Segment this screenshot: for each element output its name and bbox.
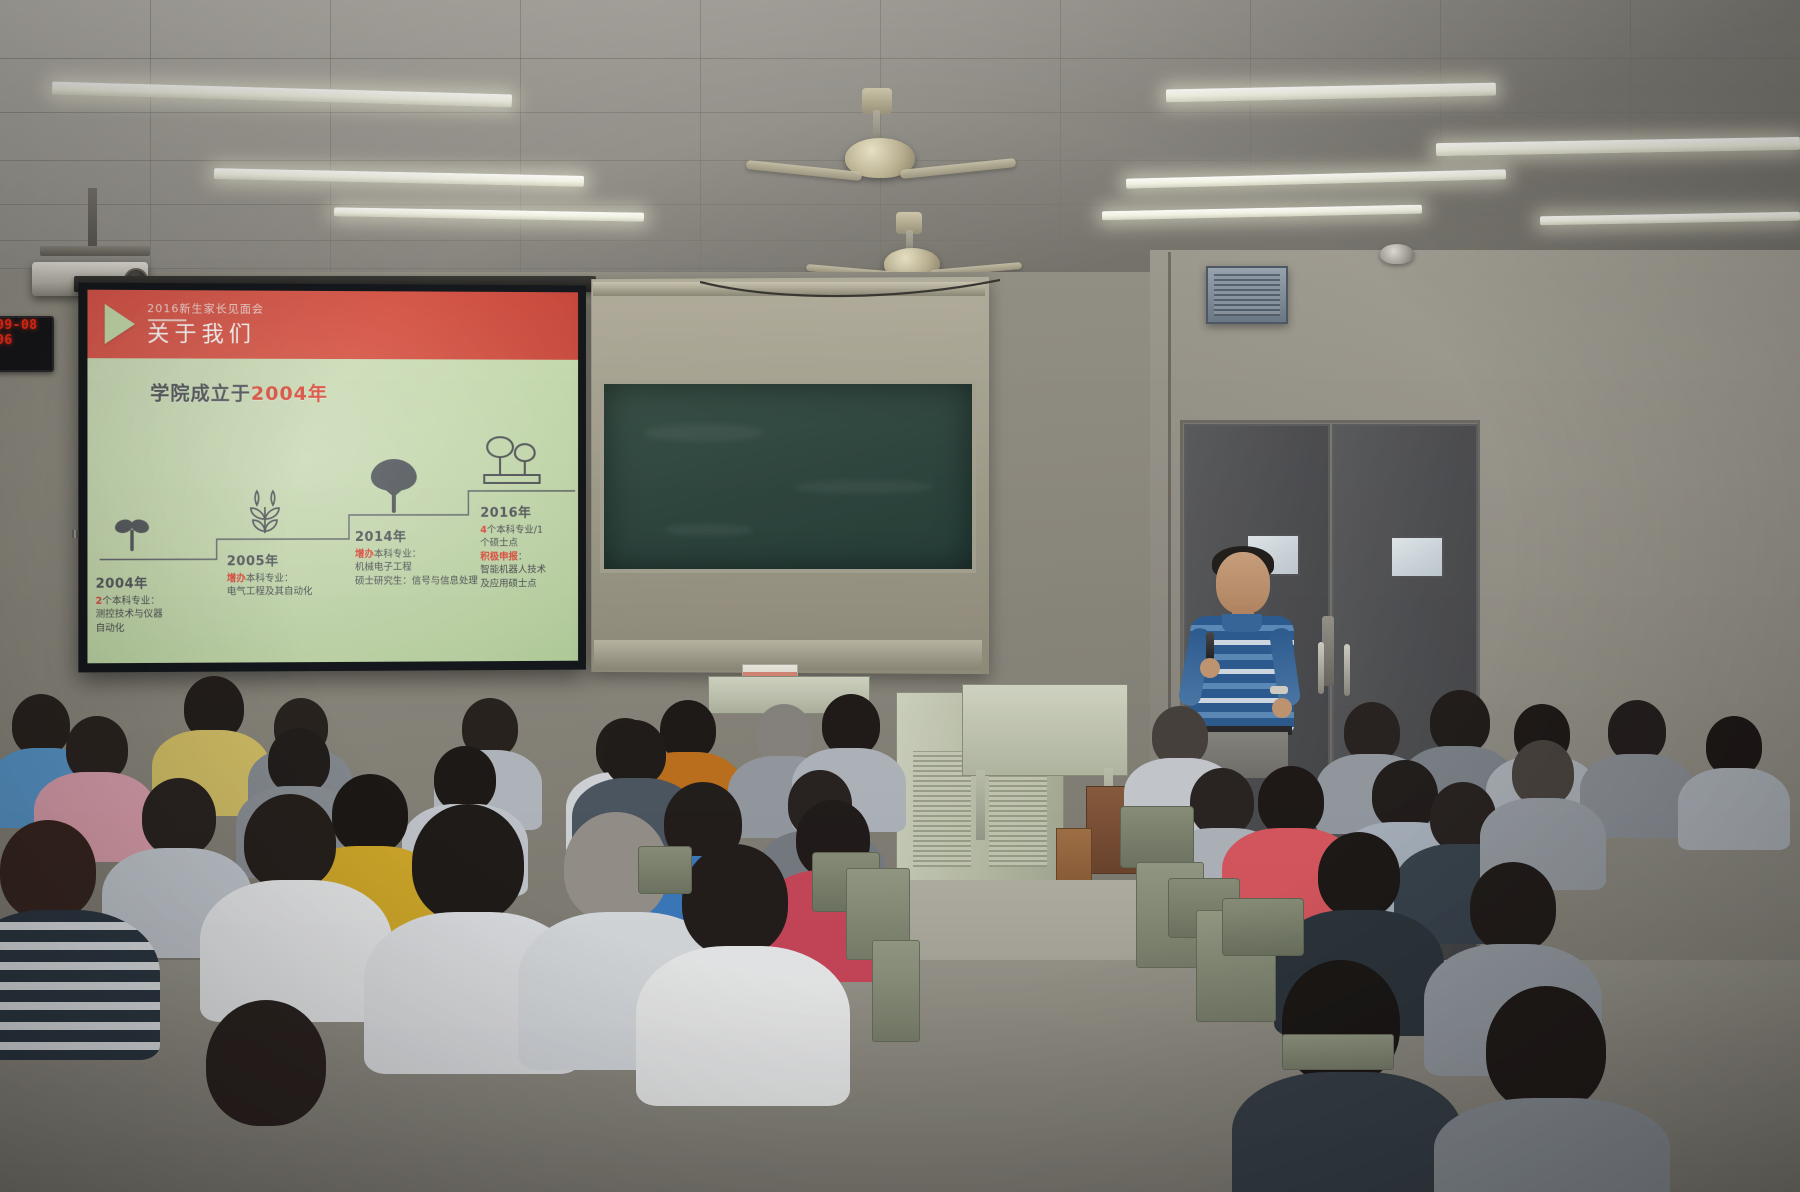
timeline-line: 个硕士点	[480, 537, 546, 551]
dome-camera-icon	[1380, 244, 1414, 264]
audience-body	[636, 946, 850, 1106]
sprout-icon	[114, 511, 150, 551]
audience-body	[1678, 768, 1790, 850]
audience-head	[12, 694, 70, 756]
timeline-year: 2005年	[227, 555, 313, 569]
timeline-line: 积极申报：	[480, 550, 546, 564]
audience-body	[1434, 1098, 1670, 1192]
led-clock-time: 06	[0, 333, 52, 348]
tree-icon	[369, 457, 419, 513]
audience-head	[206, 1000, 326, 1126]
ceiling-cable	[700, 278, 1000, 306]
wristwatch-icon	[1270, 686, 1288, 694]
projector-bracket	[88, 188, 97, 250]
seedling-icon	[243, 489, 287, 535]
audience-head	[412, 804, 524, 922]
presenter-head	[1216, 552, 1270, 614]
timeline-col-2004: 2004年 2个本科专业： 测控技术与仪器 自动化	[96, 577, 163, 635]
timeline-line: 智能机器人技术	[480, 563, 546, 577]
audience-head	[1512, 740, 1574, 806]
projected-slide: 2016新生家长见面会 关于我们 学院成立于2004年	[87, 290, 578, 664]
classroom-chair	[638, 846, 692, 894]
slide-title: 关于我们	[147, 322, 264, 348]
timeline-line: 机械电子工程	[355, 561, 478, 575]
timeline-line: 硕士研究生：信号与信息处理	[355, 574, 478, 588]
audience-head	[822, 694, 880, 756]
timeline-line: 增办本科专业：	[227, 572, 313, 586]
timeline-line: 及应用硕士点	[480, 577, 546, 591]
audience-head	[1608, 700, 1666, 762]
green-chalkboard	[600, 380, 976, 573]
timeline-year: 2004年	[96, 577, 163, 591]
timeline-col-2016: 2016年 4个本科专业/1 个硕士点 积极申报： 智能机器人技术 及应用硕士点	[480, 507, 546, 591]
audience-head	[244, 794, 336, 890]
audience-head	[1430, 690, 1490, 754]
ac-grill-icon	[1214, 274, 1280, 316]
timeline-year: 2014年	[355, 531, 478, 545]
timeline-line: 自动化	[96, 621, 163, 635]
forest-icon	[480, 435, 541, 497]
audience-head	[332, 774, 408, 854]
side-desk	[962, 684, 1128, 776]
presenter-collar	[1222, 614, 1262, 632]
wall-air-conditioner	[1206, 266, 1288, 324]
audience-head	[1706, 716, 1762, 776]
door-handle-right[interactable]	[1344, 644, 1350, 696]
wall-led-clock: 09-08 06	[0, 316, 54, 372]
audience-head	[604, 720, 666, 786]
timeline-year: 2016年	[480, 507, 546, 520]
slide-kicker: 2016新生家长见面会	[147, 302, 264, 317]
timeline-col-2005: 2005年 增办本科专业： 电气工程及其自动化	[227, 555, 313, 599]
slide-heading: 学院成立于2004年	[150, 378, 328, 406]
presenter-right-hand	[1272, 698, 1292, 718]
classroom-chair	[1282, 1034, 1394, 1070]
timeline-col-2014: 2014年 增办本科专业： 机械电子工程 硕士研究生：信号与信息处理	[355, 531, 478, 588]
door-window-right	[1390, 536, 1444, 578]
audience-head	[1190, 768, 1254, 836]
audience-head	[1152, 706, 1208, 766]
audience-body	[1232, 1072, 1462, 1192]
play-triangle-icon	[105, 304, 135, 344]
audience-head	[1318, 832, 1400, 918]
audience-head	[434, 746, 496, 812]
timeline-line: 电气工程及其自动化	[227, 585, 313, 599]
audience-head	[1258, 766, 1324, 836]
timeline-line: 4个本科专业/1	[480, 523, 546, 537]
projector-arm	[40, 246, 150, 256]
classroom-chair	[1120, 806, 1194, 868]
audience-head	[268, 728, 330, 794]
audience-head	[0, 820, 96, 920]
slide-heading-plain: 学院成立于	[150, 383, 251, 405]
door-handle-left[interactable]	[1318, 642, 1324, 694]
slide-header: 2016新生家长见面会 关于我们	[87, 290, 578, 360]
audience-head	[1344, 702, 1400, 762]
led-clock-date: 09-08	[0, 318, 52, 333]
presenter-left-hand	[1200, 658, 1220, 678]
audience-body	[0, 910, 160, 1060]
slide-heading-accent: 2004年	[251, 383, 328, 405]
classroom-chair	[1222, 898, 1304, 956]
audience-head	[756, 704, 812, 764]
timeline-line: 2个本科专业：	[96, 594, 163, 608]
classroom-photo: 09-08 06 2016新生家长见面会 关于我们	[0, 0, 1800, 1192]
audience-head	[1486, 986, 1606, 1112]
audience-head	[660, 700, 716, 760]
slide-body: 学院成立于2004年	[87, 358, 578, 663]
timeline-line: 测控技术与仪器	[96, 608, 163, 622]
timeline-line: 增办本科专业：	[355, 547, 478, 561]
projection-screen: 2016新生家长见面会 关于我们 学院成立于2004年	[78, 283, 586, 673]
audience-head	[1470, 862, 1556, 952]
audience-head	[682, 844, 788, 956]
audience-head	[142, 778, 216, 856]
classroom-chair	[872, 940, 920, 1042]
audience-head	[1372, 760, 1438, 830]
slide-header-rule	[148, 319, 186, 321]
microphone-icon	[1206, 632, 1214, 660]
